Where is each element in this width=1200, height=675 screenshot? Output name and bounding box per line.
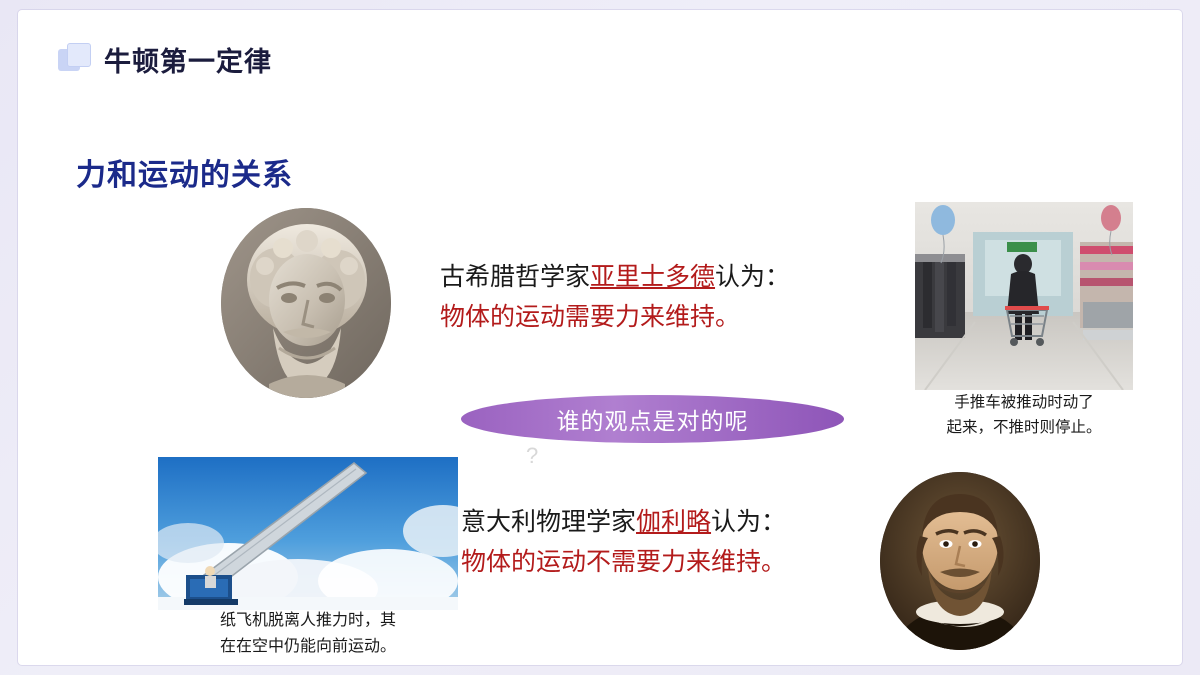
galileo-line1-prefix: 意大利物理学家 (461, 508, 636, 536)
header-title: 牛顿第一定律 (104, 40, 272, 79)
slide-header: 牛顿第一定律 (58, 40, 272, 79)
cart-photo (915, 202, 1133, 390)
section-title: 力和运动的关系 (76, 150, 293, 194)
galileo-name: 伽利略 (636, 508, 711, 536)
galileo-line1-suffix: 认为： (711, 508, 786, 536)
aristotle-statement: 古希腊哲学家亚里士多德认为： 物体的运动需要力来维持。 (440, 257, 790, 337)
question-banner: 谁的观点是对的呢 (461, 395, 844, 443)
cart-caption-line2: 起来，不推时则停止。 (915, 415, 1133, 440)
aristotle-claim: 物体的运动需要力来维持。 (440, 297, 790, 337)
plane-photo (158, 457, 458, 610)
aristotle-portrait (221, 208, 391, 398)
galileo-portrait (880, 472, 1040, 650)
question-banner-text: 谁的观点是对的呢 (557, 402, 749, 436)
stacked-squares-icon (58, 43, 92, 77)
aristotle-name: 亚里士多德 (590, 263, 715, 291)
plane-caption-line1: 纸飞机脱离人推力时，其 (158, 608, 458, 634)
question-mark: ? (526, 443, 538, 469)
plane-caption-line2: 在在空中仍能向前运动。 (158, 634, 458, 660)
galileo-claim: 物体的运动不需要力来维持。 (461, 542, 786, 582)
slide-canvas: 牛顿第一定律 力和运动的关系 (0, 0, 1200, 675)
aristotle-line1-prefix: 古希腊哲学家 (440, 263, 590, 291)
aristotle-line1-suffix: 认为： (715, 263, 790, 291)
galileo-statement: 意大利物理学家伽利略认为： 物体的运动不需要力来维持。 (461, 502, 786, 582)
slide: 牛顿第一定律 力和运动的关系 (18, 10, 1182, 665)
cart-caption-line1: 手推车被推动时动了 (915, 390, 1133, 415)
cart-photo-caption: 手推车被推动时动了 起来，不推时则停止。 (915, 390, 1133, 440)
plane-photo-caption: 纸飞机脱离人推力时，其 在在空中仍能向前运动。 (158, 608, 458, 660)
